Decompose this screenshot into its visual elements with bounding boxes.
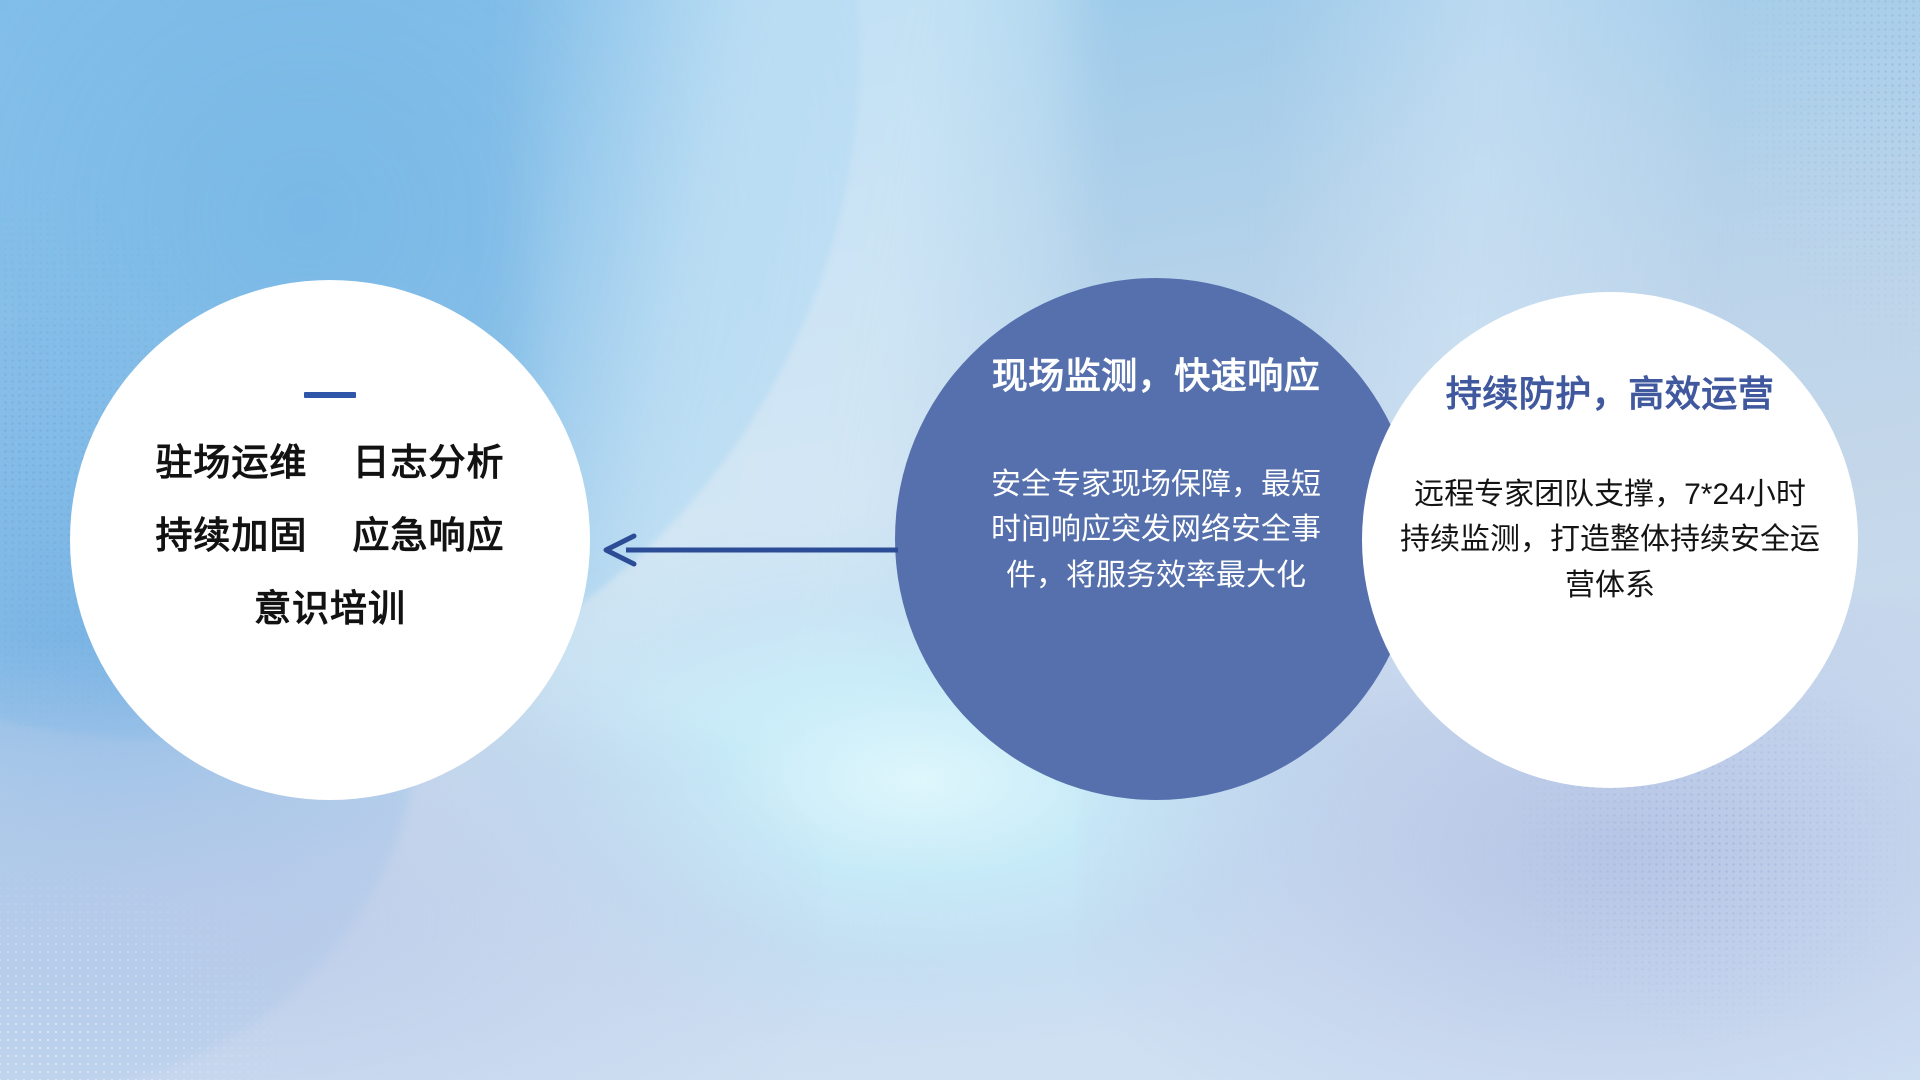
capability-line-3: 意识培训	[254, 590, 406, 627]
middle-circle-content: 现场监测，快速响应 安全专家现场保障，最短时间响应突发网络安全事件，将服务效率最…	[895, 278, 1417, 598]
onsite-monitoring-title: 现场监测，快速响应	[992, 356, 1321, 396]
left-arrow-icon	[600, 528, 900, 572]
left-circle-content: 驻场运维 日志分析 持续加固 应急响应 意识培训	[70, 280, 590, 627]
onsite-monitoring-body: 安全专家现场保障，最短时间响应突发网络安全事件，将服务效率最大化	[991, 462, 1321, 599]
right-circle-content: 持续防护，高效运营 远程专家团队支撑，7*24小时持续监测，打造整体持续安全运营…	[1362, 292, 1858, 608]
continuous-protection-title: 持续防护，高效运营	[1446, 374, 1775, 414]
background-dot-texture-bottom-left	[0, 860, 300, 1080]
capability-circle-left[interactable]: 驻场运维 日志分析 持续加固 应急响应 意识培训	[70, 280, 590, 800]
capability-line-2: 持续加固 应急响应	[155, 517, 504, 554]
slide-canvas: 驻场运维 日志分析 持续加固 应急响应 意识培训 现场监测，快速响应 安全专家现…	[0, 0, 1920, 1080]
capability-line-1: 驻场运维 日志分析	[155, 444, 504, 481]
continuous-protection-circle[interactable]: 持续防护，高效运营 远程专家团队支撑，7*24小时持续监测，打造整体持续安全运营…	[1362, 292, 1858, 788]
onsite-monitoring-circle[interactable]: 现场监测，快速响应 安全专家现场保障，最短时间响应突发网络安全事件，将服务效率最…	[895, 278, 1417, 800]
dash-marker-icon	[304, 392, 356, 398]
continuous-protection-body: 远程专家团队支撑，7*24小时持续监测，打造整体持续安全运营体系	[1400, 472, 1820, 609]
